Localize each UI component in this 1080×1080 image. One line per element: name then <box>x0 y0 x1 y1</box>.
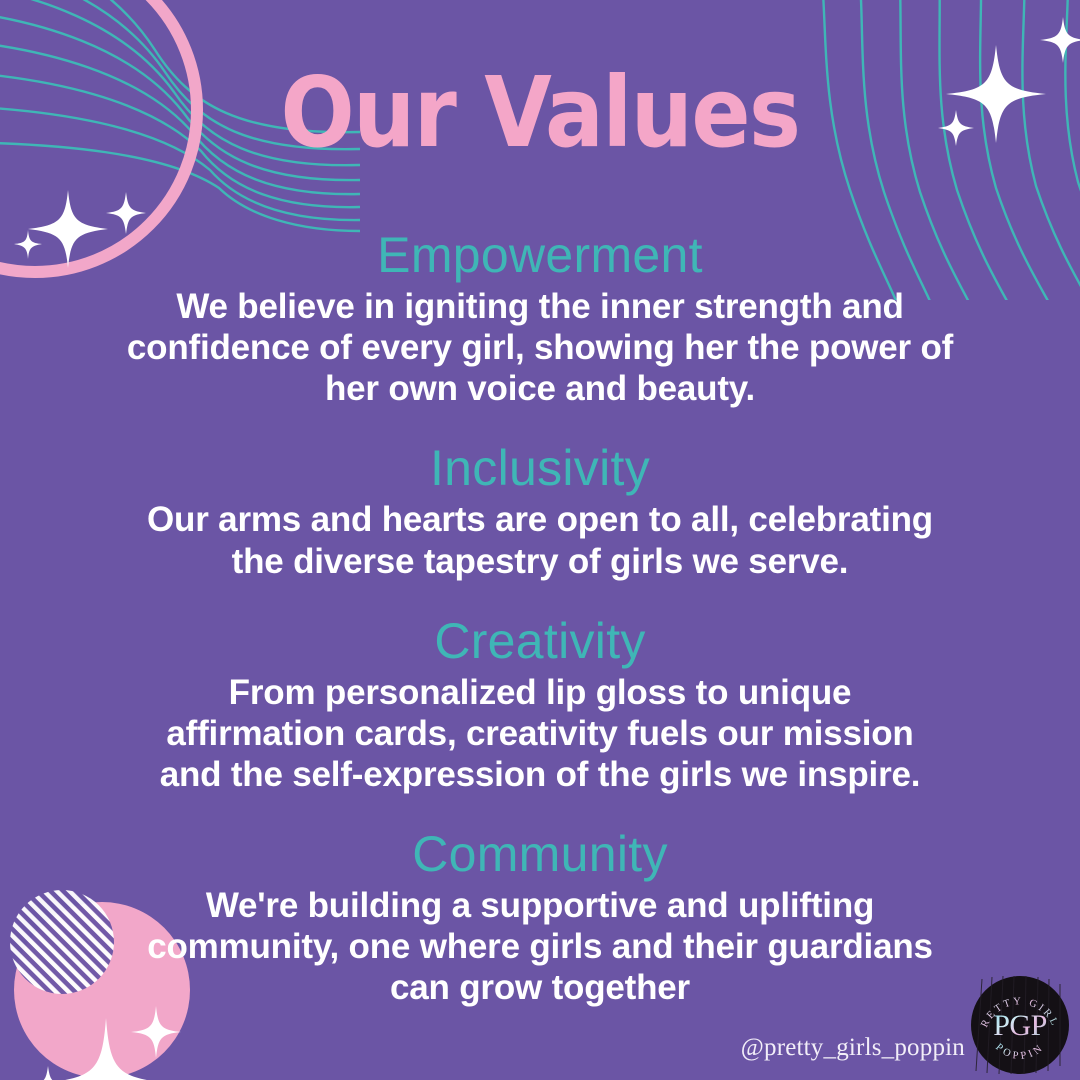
value-text-empowerment: We believe in igniting the inner strengt… <box>105 286 975 409</box>
value-text-creativity: From personalized lip gloss to unique af… <box>140 672 940 795</box>
value-text-inclusivity: Our arms and hearts are open to all, cel… <box>120 499 960 581</box>
value-heading-inclusivity: Inclusivity <box>58 439 1022 497</box>
value-block-community: Community We're building a supportive an… <box>58 825 1022 1008</box>
social-handle: @pretty_girls_poppin <box>741 1034 965 1062</box>
logo-monogram: PGP <box>993 1009 1047 1042</box>
value-heading-community: Community <box>58 825 1022 883</box>
value-block-inclusivity: Inclusivity Our arms and hearts are open… <box>58 439 1022 581</box>
value-heading-empowerment: Empowerment <box>58 226 1022 284</box>
value-block-empowerment: Empowerment We believe in igniting the i… <box>58 226 1022 409</box>
values-poster: Our Values Empowerment We believe in ign… <box>0 0 1080 1080</box>
values-list: Empowerment We believe in igniting the i… <box>0 226 1080 1008</box>
page-title: Our Values <box>0 62 1080 164</box>
sparkle-group-bottom-left <box>29 1006 181 1080</box>
brand-logo: PRETTY GIRLS PGP POPPIN <box>970 975 1070 1075</box>
value-text-community: We're building a supportive and upliftin… <box>145 885 935 1008</box>
value-heading-creativity: Creativity <box>58 612 1022 670</box>
value-block-creativity: Creativity From personalized lip gloss t… <box>58 612 1022 795</box>
